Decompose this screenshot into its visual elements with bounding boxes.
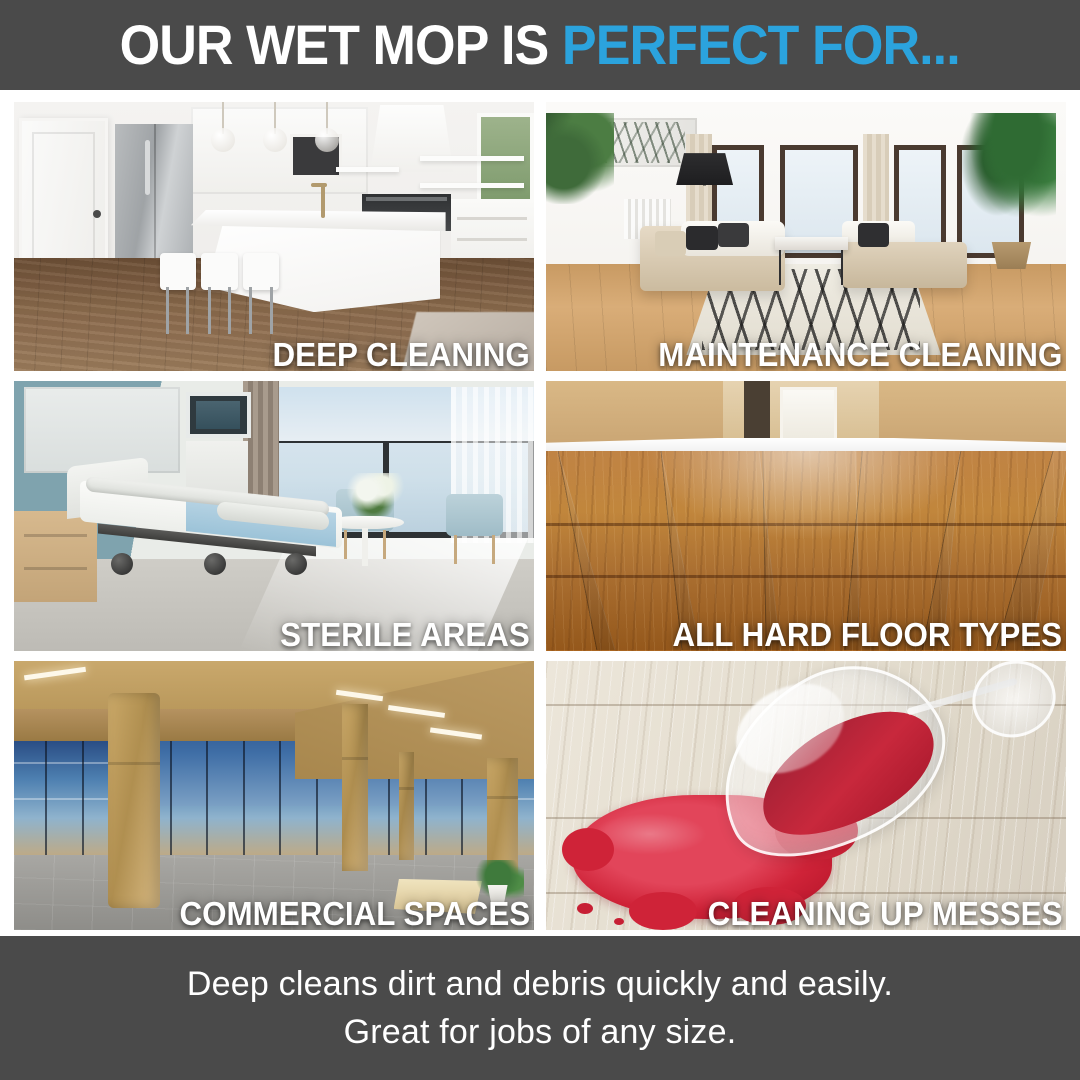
concrete-column (487, 758, 518, 877)
footer-line-1: Deep cleans dirt and debris quickly and … (187, 960, 893, 1008)
house-plant-icon (952, 113, 1056, 248)
feature-caption: CLEANING UP MESSES (707, 894, 1062, 930)
footer-line-2: Great for jobs of any size. (344, 1008, 737, 1056)
feature-cell-deep-cleaning[interactable]: DEEP CLEANING (14, 102, 534, 371)
feature-cell-all-hard-floor-types[interactable]: ALL HARD FLOOR TYPES (546, 381, 1066, 650)
hospital-bed-icon (61, 462, 373, 575)
page-title: OUR WET MOP IS PERFECT FOR... (120, 17, 960, 73)
patient-monitor-icon (186, 392, 251, 438)
feature-caption: DEEP CLEANING (273, 335, 530, 371)
medical-headwall-panel (24, 387, 180, 473)
header-banner: OUR WET MOP IS PERFECT FOR... (0, 0, 1080, 90)
hospital-room-photo (14, 381, 534, 650)
wine-spill-photo (546, 661, 1066, 930)
feature-cell-cleaning-up-messes[interactable]: CLEANING UP MESSES (546, 661, 1066, 930)
hardwood-floor-photo (546, 381, 1066, 650)
hallway-door (780, 387, 837, 446)
feature-image-grid: DEEP CLEANING (14, 102, 1066, 930)
product-feature-infographic: OUR WET MOP IS PERFECT FOR... (0, 0, 1080, 1080)
feature-cell-commercial-spaces[interactable]: COMMERCIAL SPACES (14, 661, 534, 930)
living-room-photo (546, 102, 1066, 371)
feature-caption: COMMERCIAL SPACES (179, 894, 530, 930)
kitchen-photo (14, 102, 534, 371)
feature-caption: STERILE AREAS (280, 615, 530, 651)
concrete-column (342, 704, 368, 871)
concrete-column (108, 693, 160, 908)
feature-cell-maintenance-cleaning[interactable]: MAINTENANCE CLEANING (546, 102, 1066, 371)
floor-lamp-icon (676, 153, 733, 185)
feature-cell-sterile-areas[interactable]: STERILE AREAS (14, 381, 534, 650)
page-title-white-part: OUR WET MOP IS (120, 13, 549, 76)
feature-caption: ALL HARD FLOOR TYPES (672, 615, 1062, 651)
footer-banner: Deep cleans dirt and debris quickly and … (0, 936, 1080, 1080)
commercial-lobby-photo (14, 661, 534, 930)
concrete-column (399, 752, 415, 860)
feature-caption: MAINTENANCE CLEANING (658, 335, 1062, 371)
page-title-accent-part: PERFECT FOR... (562, 13, 960, 76)
